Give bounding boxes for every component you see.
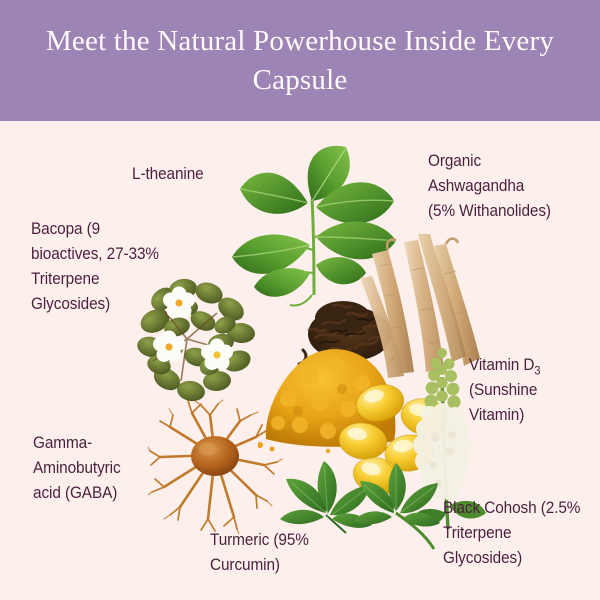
label-vitamin-d3: Vitamin D3(SunshineVitamin) bbox=[469, 353, 595, 428]
label-l-theanine: L-theanine bbox=[132, 162, 272, 187]
label-turmeric: Turmeric (95% Curcumin) bbox=[210, 528, 368, 578]
label-gaba: Gamma- Aminobutyric acid (GABA) bbox=[33, 431, 177, 506]
label-bacopa: Bacopa (9 bioactives, 27-33% Triterpene … bbox=[31, 217, 194, 317]
infographic-page: Meet the Natural Powerhouse Inside Every… bbox=[0, 0, 600, 600]
page-title: Meet the Natural Powerhouse Inside Every… bbox=[30, 22, 570, 99]
label-black-cohosh: Black Cohosh (2.5% Triterpene Glycosides… bbox=[443, 496, 600, 571]
label-ashwagandha: Organic Ashwagandha (5% Withanolides) bbox=[428, 149, 595, 224]
ingredient-canvas: L-theanine Bacopa (9 bioactives, 27-33% … bbox=[0, 121, 600, 600]
header-band: Meet the Natural Powerhouse Inside Every… bbox=[0, 0, 600, 121]
